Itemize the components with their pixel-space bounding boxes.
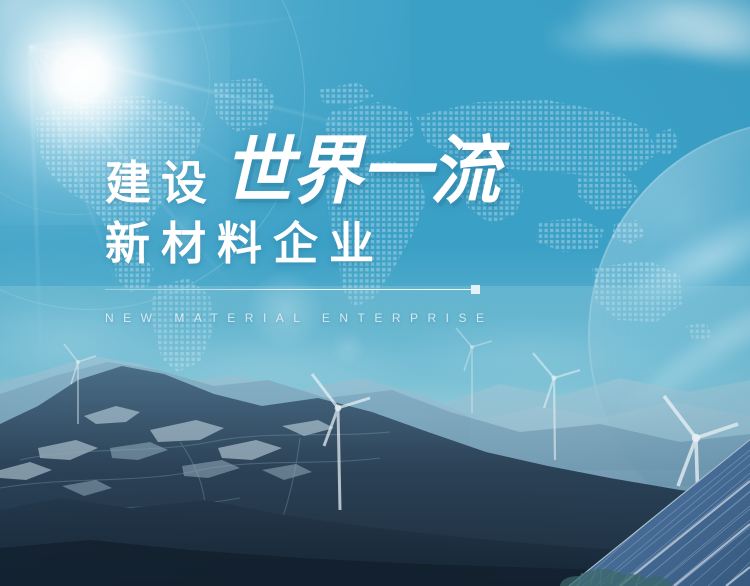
headline-line-1: 建设 世界一流	[105, 134, 665, 208]
wind-turbine	[448, 325, 494, 413]
wind-turbine	[58, 342, 98, 424]
headline-line-2: 新材料企业	[105, 220, 665, 267]
headline-subtitle: NEW MATERIAL ENTERPRISE	[105, 311, 665, 325]
headline-divider	[105, 289, 471, 290]
headline-emphasis: 世界一流	[223, 134, 499, 208]
headline-prefix: 建设	[105, 160, 217, 208]
headline-block: 建设 世界一流 新材料企业 NEW MATERIAL ENTERPRISE	[105, 134, 665, 325]
divider-end-square	[471, 285, 480, 294]
hero-banner: 建设 世界一流 新材料企业 NEW MATERIAL ENTERPRISE	[0, 0, 750, 586]
cloud-wisp	[546, 14, 666, 58]
solar-panel-array	[450, 411, 750, 586]
wind-turbine	[296, 370, 372, 510]
